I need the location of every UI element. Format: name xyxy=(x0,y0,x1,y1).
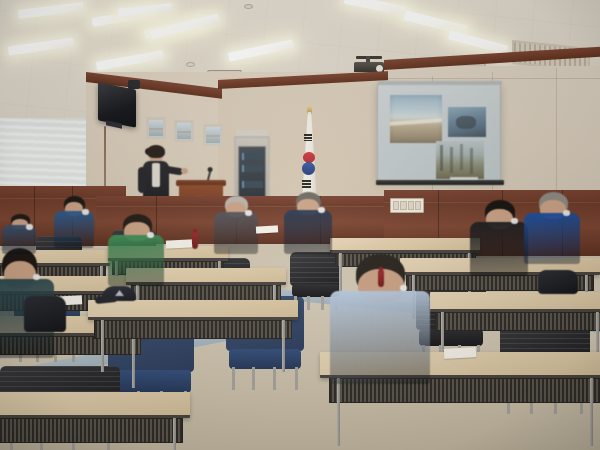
bag-black-on-chair[interactable] xyxy=(538,270,578,294)
papers-handout-3[interactable] xyxy=(444,347,476,359)
backpack-black[interactable] xyxy=(24,296,66,332)
papers-handout-2[interactable] xyxy=(166,239,192,248)
bottle-cap xyxy=(193,229,197,233)
papers-handout-4[interactable] xyxy=(256,225,278,233)
cap-logo-icon xyxy=(115,290,124,296)
baseball-cap-on-desk[interactable] xyxy=(102,286,136,301)
props-layer xyxy=(0,0,600,450)
water-bottle-red[interactable] xyxy=(378,270,384,287)
bottle-cap xyxy=(379,267,383,271)
cap-brim xyxy=(95,295,118,304)
water-bottle-red-2[interactable] xyxy=(192,232,198,249)
seminar-room-photo xyxy=(0,0,600,450)
